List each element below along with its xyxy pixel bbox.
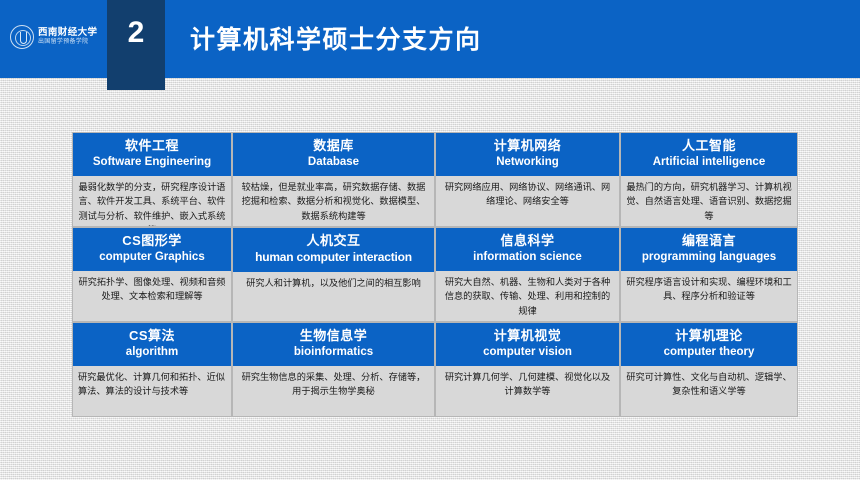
page-title: 计算机科学硕士分支方向 <box>190 20 482 56</box>
branch-card[interactable]: 生物信息学bioinformatics研究生物信息的采集、处理、分析、存储等，用… <box>232 322 435 417</box>
branch-card[interactable]: 计算机理论computer theory研究可计算性、文化与自动机、逻辑学、复杂… <box>620 322 798 417</box>
logo-text-group: 西南财经大学 出国留学预备学院 <box>38 28 97 45</box>
branch-title-en: Software Engineering <box>75 155 229 170</box>
branch-card-header: 数据库Database <box>233 133 434 176</box>
branch-title-cn: CS算法 <box>75 328 229 344</box>
branch-description: 研究人和计算机，以及他们之间的相互影响 <box>233 272 434 321</box>
logo-university-name: 西南财经大学 <box>38 28 97 38</box>
branch-description: 研究最优化、计算几何和拓扑、近似算法、算法的设计与技术等 <box>73 366 231 416</box>
branch-card-header: CS图形学computer Graphics <box>73 228 231 271</box>
branch-card-header: 人工智能Artificial intelligence <box>621 133 797 176</box>
branch-title-cn: 计算机理论 <box>623 328 795 344</box>
branch-title-cn: 生物信息学 <box>235 328 432 344</box>
branch-title-en: algorithm <box>75 345 229 360</box>
branch-title-en: computer Graphics <box>75 250 229 265</box>
branch-card-header: 计算机网络Networking <box>436 133 619 176</box>
branch-card[interactable]: 计算机视觉computer vision研究计算几何学、几何建模、视觉化以及计算… <box>435 322 620 417</box>
branch-card[interactable]: 计算机网络Networking研究网络应用、网络协议、网络通讯、网络理论、网络安… <box>435 132 620 227</box>
branch-card[interactable]: 软件工程Software Engineering最弱化数学的分支，研究程序设计语… <box>72 132 232 227</box>
branch-description: 较枯燥，但是就业率高，研究数据存储、数据挖掘和检索、数据分析和视觉化、数据模型、… <box>233 176 434 226</box>
branch-card[interactable]: 人机交互human computer interaction研究人和计算机，以及… <box>232 227 435 322</box>
branch-card-header: 计算机视觉computer vision <box>436 323 619 366</box>
branch-title-cn: CS图形学 <box>75 233 229 249</box>
branch-card-header: 生物信息学bioinformatics <box>233 323 434 366</box>
branch-title-en: computer theory <box>623 345 795 360</box>
logo-college-name: 出国留学预备学院 <box>38 39 97 45</box>
branch-card-grid: 软件工程Software Engineering最弱化数学的分支，研究程序设计语… <box>72 132 798 417</box>
branch-title-en: human computer interaction <box>235 250 432 266</box>
branch-title-cn: 信息科学 <box>438 233 617 249</box>
branch-description: 研究生物信息的采集、处理、分析、存储等，用于揭示生物学奥秘 <box>233 366 434 416</box>
branch-description: 研究计算几何学、几何建模、视觉化以及计算数学等 <box>436 366 619 416</box>
branch-title-en: computer vision <box>438 345 617 360</box>
branch-card[interactable]: 信息科学information science研究大自然、机器、生物和人类对于各… <box>435 227 620 322</box>
branch-card[interactable]: 数据库Database较枯燥，但是就业率高，研究数据存储、数据挖掘和检索、数据分… <box>232 132 435 227</box>
university-logo: 西南财经大学 出国留学预备学院 <box>10 20 102 54</box>
branch-title-cn: 计算机网络 <box>438 138 617 154</box>
branch-description: 最弱化数学的分支，研究程序设计语言、软件开发工具、系统平台、软件测试与分析、软件… <box>73 176 231 227</box>
branch-description: 研究拓扑学、图像处理、视频和音频处理、文本检索和理解等 <box>73 271 231 321</box>
branch-title-cn: 计算机视觉 <box>438 328 617 344</box>
branch-description: 研究程序语言设计和实现、编程环境和工具、程序分析和验证等 <box>621 271 797 321</box>
branch-description: 最热门的方向，研究机器学习、计算机视觉、自然语言处理、语音识别、数据挖掘等 <box>621 176 797 226</box>
branch-card-header: 计算机理论computer theory <box>621 323 797 366</box>
branch-card-header: 信息科学information science <box>436 228 619 271</box>
branch-title-cn: 编程语言 <box>623 233 795 249</box>
slide-number-block: 2 <box>107 0 165 90</box>
branch-title-en: programming languages <box>623 250 795 265</box>
slide-canvas: 西南财经大学 出国留学预备学院 2 计算机科学硕士分支方向 软件工程Softwa… <box>0 0 860 480</box>
branch-card-header: 软件工程Software Engineering <box>73 133 231 176</box>
branch-description: 研究网络应用、网络协议、网络通讯、网络理论、网络安全等 <box>436 176 619 226</box>
branch-title-en: Networking <box>438 155 617 170</box>
branch-title-cn: 人机交互 <box>235 233 432 249</box>
branch-card-header: 人机交互human computer interaction <box>233 228 434 272</box>
branch-card[interactable]: CS图形学computer Graphics研究拓扑学、图像处理、视频和音频处理… <box>72 227 232 322</box>
branch-description: 研究大自然、机器、生物和人类对于各种信息的获取、传输、处理、利用和控制的规律 <box>436 271 619 321</box>
branch-title-cn: 数据库 <box>235 138 432 154</box>
slide-number: 2 <box>107 16 165 50</box>
branch-description: 研究可计算性、文化与自动机、逻辑学、复杂性和语义学等 <box>621 366 797 416</box>
branch-title-cn: 软件工程 <box>75 138 229 154</box>
branch-title-en: Database <box>235 155 432 170</box>
branch-card[interactable]: 人工智能Artificial intelligence最热门的方向，研究机器学习… <box>620 132 798 227</box>
branch-title-en: information science <box>438 250 617 265</box>
branch-card-header: 编程语言programming languages <box>621 228 797 271</box>
university-seal-icon <box>10 25 34 49</box>
branch-title-cn: 人工智能 <box>623 138 795 154</box>
branch-card-header: CS算法algorithm <box>73 323 231 366</box>
branch-card[interactable]: CS算法algorithm研究最优化、计算几何和拓扑、近似算法、算法的设计与技术… <box>72 322 232 417</box>
branch-title-en: bioinformatics <box>235 345 432 360</box>
branch-card[interactable]: 编程语言programming languages研究程序语言设计和实现、编程环… <box>620 227 798 322</box>
branch-title-en: Artificial intelligence <box>623 155 795 170</box>
